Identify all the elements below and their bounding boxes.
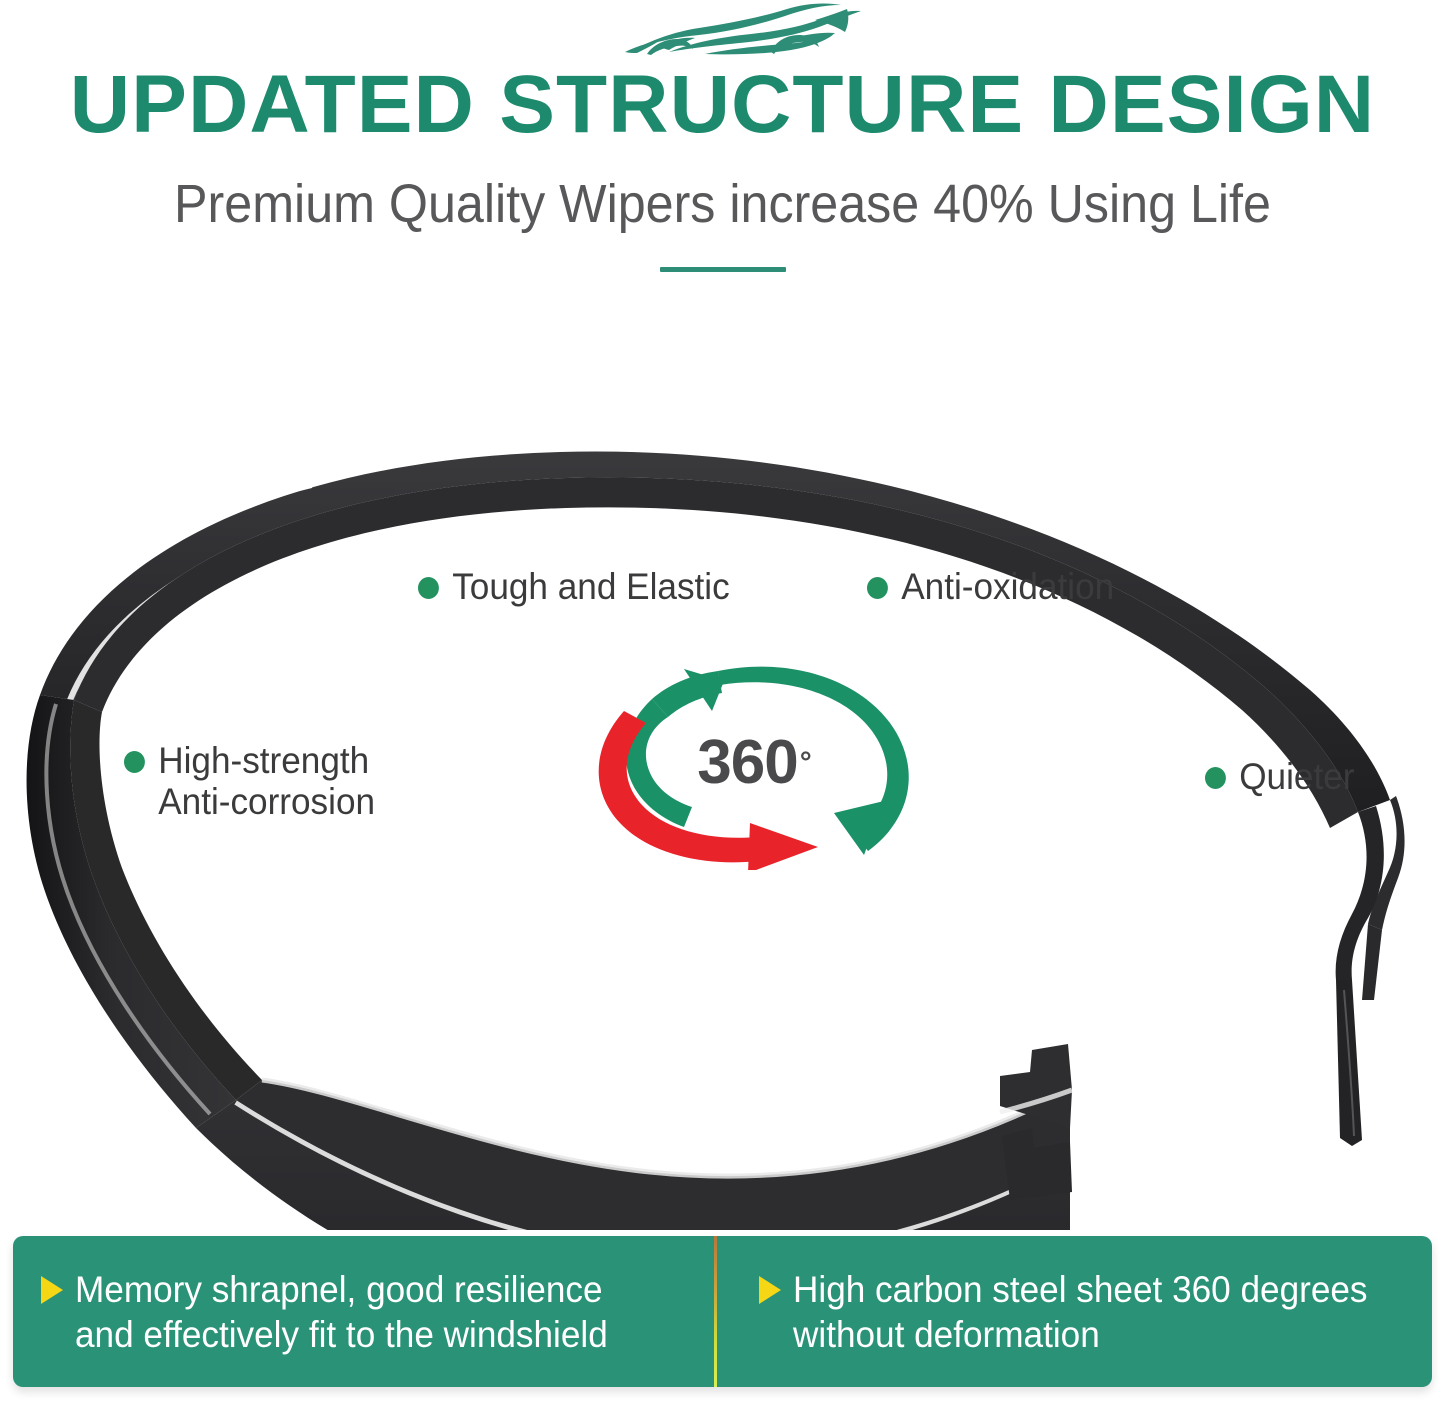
triangle-arrow-icon (41, 1276, 63, 1304)
callout-high-strength-anti-corrosion: High-strength Anti-corrosion (124, 740, 375, 822)
callout-anti-oxidation: Anti-oxidation (867, 566, 1114, 607)
callout-quieter: Quieter (1205, 756, 1354, 797)
callout-label: Quieter (1239, 756, 1354, 797)
bullet-dot-icon (418, 577, 439, 599)
callout-tough-and-elastic: Tough and Elastic (418, 566, 730, 607)
callout-label: Tough and Elastic (452, 566, 729, 607)
bullet-dot-icon (867, 577, 888, 599)
title-underline-divider (660, 267, 786, 272)
badge-360-label: 360° (572, 655, 922, 870)
bullet-dot-icon (124, 751, 145, 773)
banner-text: High carbon steel sheet 360 degrees with… (793, 1267, 1368, 1357)
badge-360-value: 360 (697, 727, 797, 798)
callout-label: Anti-oxidation (901, 566, 1114, 607)
degree-symbol: ° (800, 748, 811, 778)
page-subtitle: Premium Quality Wipers increase 40% Usin… (51, 172, 1395, 236)
callout-label: High-strength Anti-corrosion (158, 740, 375, 822)
triangle-arrow-icon (759, 1276, 781, 1304)
car-silhouette-icon (0, 2, 1445, 58)
banner-high-carbon-steel: High carbon steel sheet 360 degrees with… (717, 1236, 1432, 1387)
banner-text: Memory shrapnel, good resilience and eff… (75, 1267, 608, 1357)
page-title: UPDATED STRUCTURE DESIGN (0, 58, 1445, 152)
rotation-360-badge: 360° (572, 655, 922, 870)
product-feature-infographic: UPDATED STRUCTURE DESIGN Premium Quality… (0, 0, 1445, 1421)
banner-memory-shrapnel: Memory shrapnel, good resilience and eff… (13, 1236, 714, 1387)
bullet-dot-icon (1205, 767, 1226, 789)
feature-banner-row: Memory shrapnel, good resilience and eff… (13, 1236, 1432, 1387)
